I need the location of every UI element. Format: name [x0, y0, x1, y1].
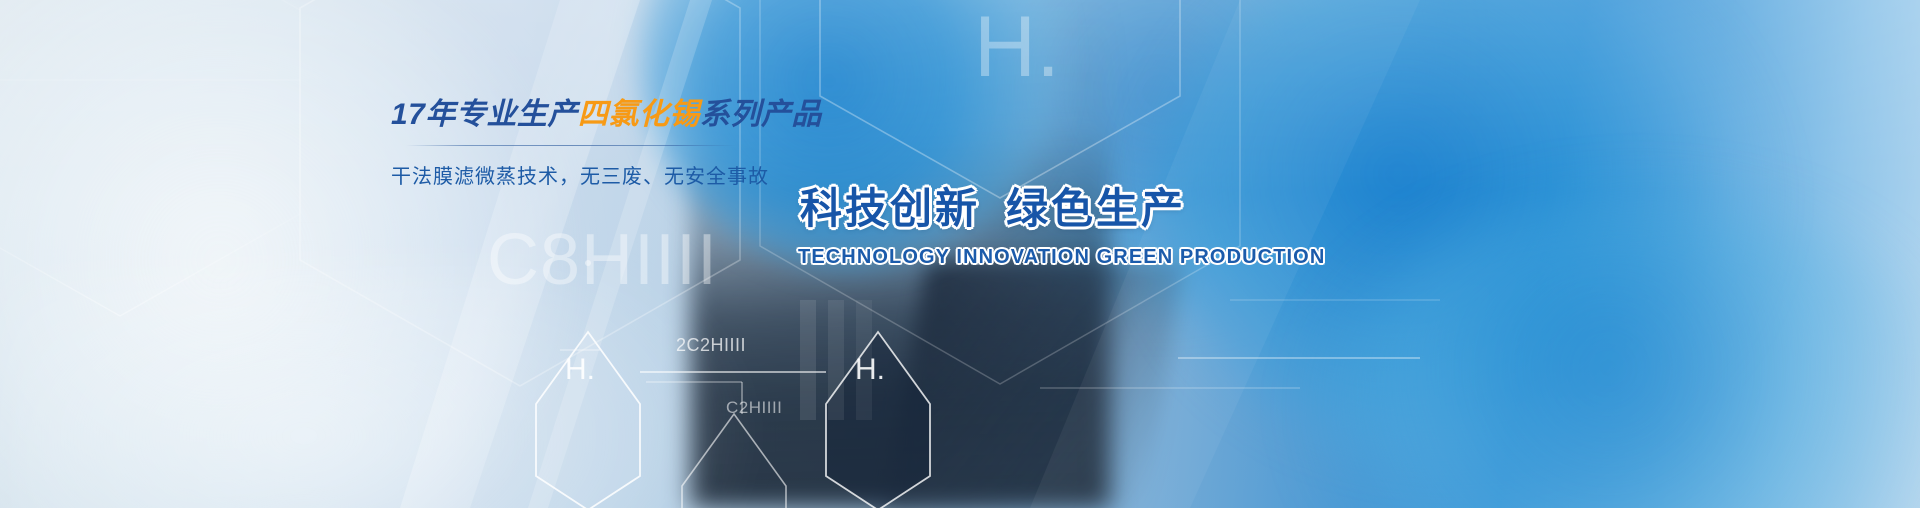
left-text-block: 17年专业生产四氯化锡系列产品 干法膜滤微蒸技术，无三废、无安全事故 — [391, 98, 751, 189]
hexagon-label-right: H. — [855, 355, 885, 385]
headline-accent: 四氯化锡 — [578, 98, 700, 131]
banner-slogan: 科技创新绿色生产 — [798, 185, 1188, 232]
slogan-part-one: 科技创新 — [800, 185, 980, 232]
headline-suffix: 系列产品 — [700, 98, 822, 131]
banner-slogan-english: TECHNOLOGY INNOVATION GREEN PRODUCTION — [798, 246, 1188, 269]
headline-divider — [406, 145, 736, 146]
formula-watermark-small: 2C2HIIII — [676, 335, 746, 356]
formula-watermark-large: C8HIIII — [487, 224, 718, 296]
headline-prefix: 17年专业生产 — [391, 98, 578, 131]
banner-headline: 17年专业生产四氯化锡系列产品 — [391, 98, 751, 132]
hexagon-label-left: H. — [565, 355, 595, 385]
banner-subline: 干法膜滤微蒸技术，无三废、无安全事故 — [391, 160, 751, 189]
formula-watermark-bottom: C2HIIII — [726, 398, 782, 418]
hydrogen-watermark-large: H. — [974, 4, 1060, 90]
hero-banner: C8HIIII 2C2HIIII C2HIIII H. H. H. 17年专业生… — [0, 0, 1920, 508]
slogan-part-two: 绿色生产 — [1006, 185, 1186, 232]
right-slogan-block: 科技创新绿色生产 TECHNOLOGY INNOVATION GREEN PRO… — [798, 185, 1188, 269]
